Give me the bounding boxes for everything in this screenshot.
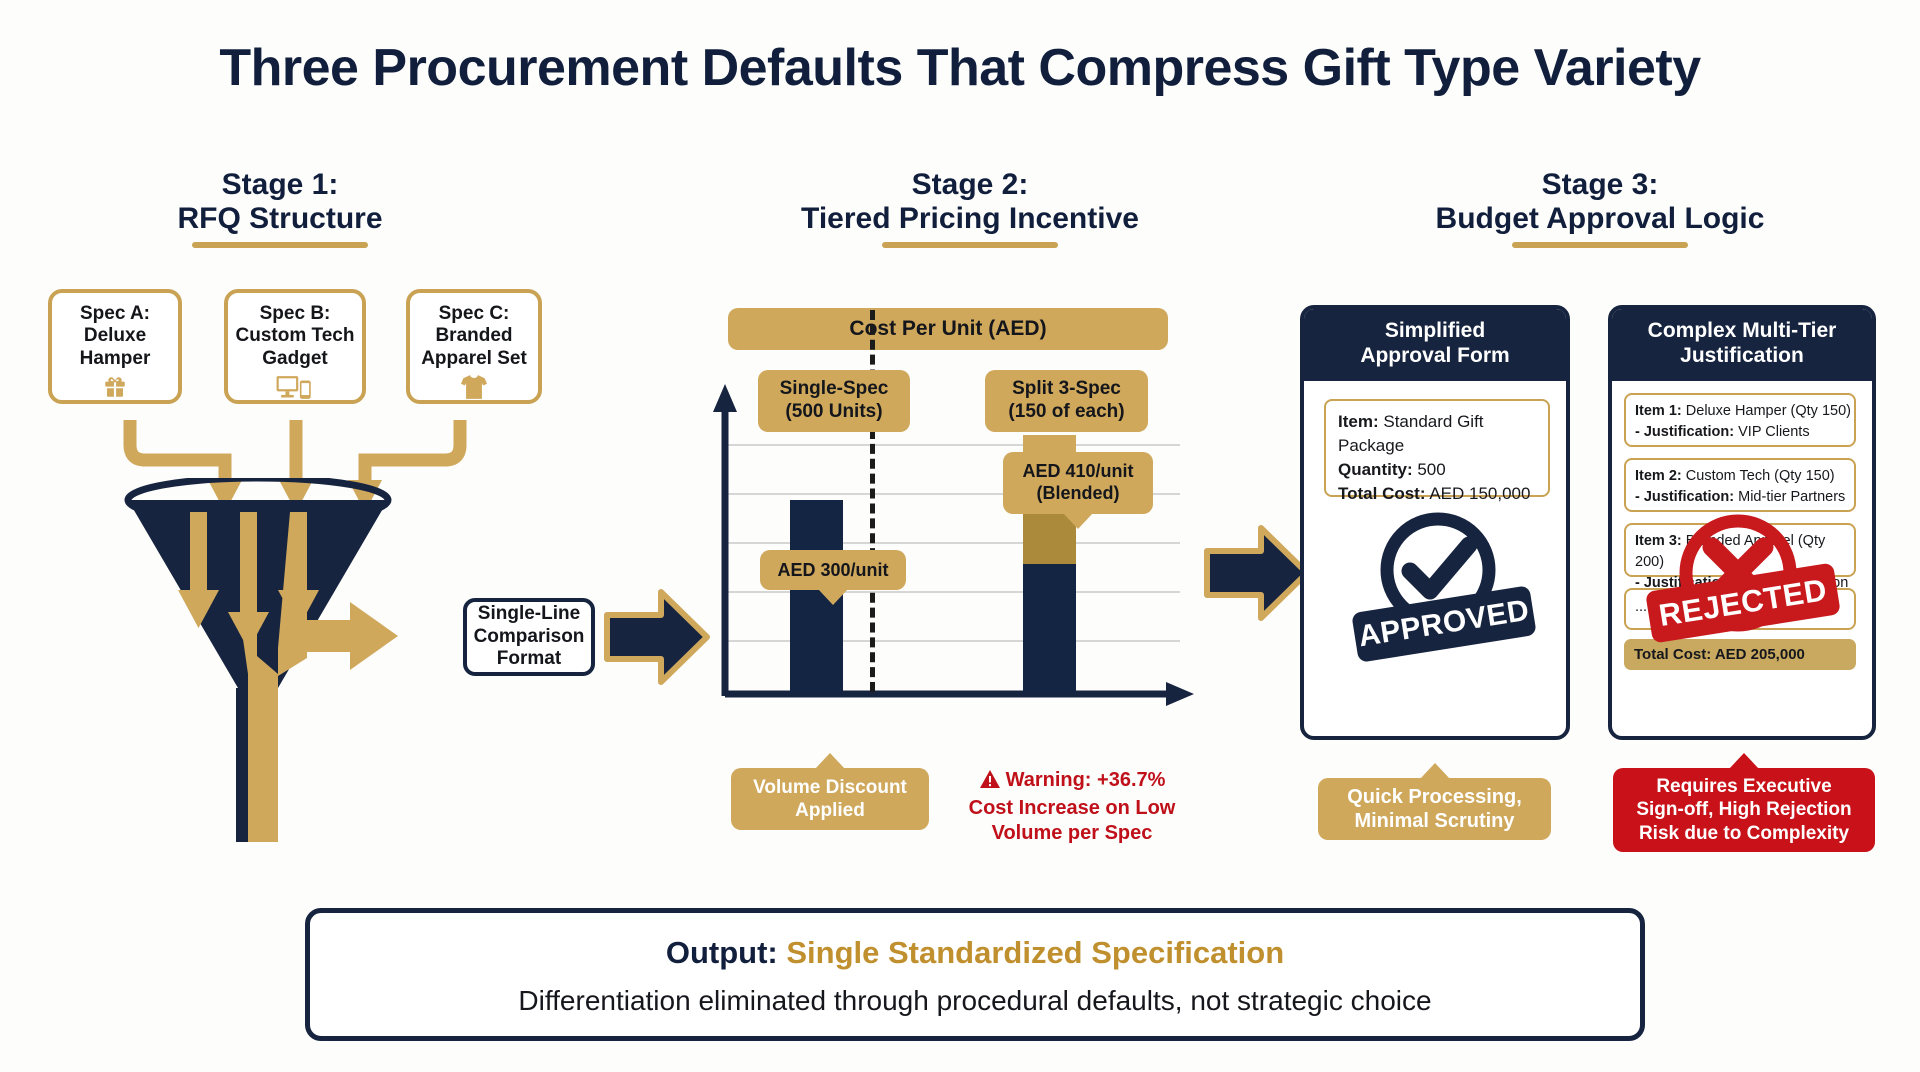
single-value-callout: AED 300/unit (760, 550, 906, 590)
spec-card-c[interactable]: Spec C: Branded Apparel Set (406, 289, 542, 404)
spec-a-line3: Hamper (52, 348, 178, 370)
simplified-field-quantity-label: Quantity: (1338, 460, 1413, 479)
single-spec-label-pill: Single-Spec (500 Units) (758, 370, 910, 432)
funnel-output-arrow (288, 598, 408, 674)
single-line-comparison-box[interactable]: Single-Line Comparison Format (463, 598, 595, 676)
complex-item-2-main: Item 2: Custom Tech (Qty 150) (1635, 466, 1854, 487)
blended-value-callout: AED 410/unit (Blended) (1003, 452, 1153, 514)
stage-2-name: Tiered Pricing Incentive (690, 202, 1250, 236)
complex-item-1-sublabel: - Justification: (1635, 424, 1734, 440)
slc-line1: Single-Line (474, 603, 585, 626)
simplified-field-quantity-value: 500 (1417, 460, 1445, 479)
complex-item-2: Item 2: Custom Tech (Qty 150) - Justific… (1624, 458, 1856, 512)
executive-signoff-caption: Requires Executive Sign-off, High Reject… (1613, 768, 1875, 852)
complex-item-1-label: Item 1: (1635, 403, 1682, 419)
split-spec-line2: (150 of each) (1008, 401, 1124, 424)
output-headline: Output: Single Standardized Specificatio… (310, 935, 1640, 971)
single-value-text: AED 300/unit (777, 560, 888, 581)
output-value: Single Standardized Specification (786, 935, 1284, 970)
gift-icon (52, 374, 178, 405)
chart-title-text: Cost Per Unit (AED) (849, 317, 1046, 341)
warning-line3: Volume per Spec (948, 821, 1196, 846)
complex-card-header: Complex Multi-Tier Justification (1612, 309, 1872, 381)
spec-b-line1: Spec B: (228, 303, 362, 325)
devices-icon (228, 374, 362, 405)
spec-b-line3: Gadget (228, 348, 362, 370)
stage-3-number: Stage 3: (1320, 168, 1880, 202)
complex-item-2-label: Item 2: (1635, 468, 1682, 484)
simplified-field-item-label: Item: (1338, 412, 1379, 431)
tshirt-icon (410, 374, 538, 405)
single-spec-line2: (500 Units) (780, 401, 889, 424)
simplified-fields-box: Item: Standard Gift Package Quantity: 50… (1324, 399, 1550, 497)
complex-item-2-value: Custom Tech (Qty 150) (1686, 468, 1835, 484)
blended-line2: (Blended) (1022, 483, 1133, 505)
executive-signoff-line1: Requires Executive (1636, 775, 1851, 798)
stage-1-name: RFQ Structure (60, 202, 500, 236)
warning-line1: Warning: +36.7% (1006, 769, 1166, 791)
stage-3-header: Stage 3: Budget Approval Logic (1320, 168, 1880, 248)
spec-card-b[interactable]: Spec B: Custom Tech Gadget (224, 289, 366, 404)
complex-item-1-subvalue: VIP Clients (1738, 424, 1809, 440)
stage-2-header: Stage 2: Tiered Pricing Incentive (690, 168, 1250, 248)
complex-item-2-sub: - Justification: Mid-tier Partners (1635, 487, 1854, 508)
complex-justification-card[interactable]: Complex Multi-Tier Justification Item 1:… (1608, 305, 1876, 740)
spec-c-line2: Branded (410, 325, 538, 347)
split-spec-line1: Split 3-Spec (1008, 378, 1124, 401)
spec-b-line2: Custom Tech (228, 325, 362, 347)
stage-1-header: Stage 1: RFQ Structure (60, 168, 500, 248)
executive-signoff-line3: Risk due to Complexity (1636, 822, 1851, 845)
single-spec-line1: Single-Spec (780, 378, 889, 401)
stage-1-number: Stage 1: (60, 168, 500, 202)
complex-item-2-subvalue: Mid-tier Partners (1738, 489, 1845, 505)
stage2-to-stage3-arrow (1203, 518, 1313, 628)
stage-3-name: Budget Approval Logic (1320, 202, 1880, 236)
complex-title-line2: Justification (1616, 344, 1868, 369)
slc-line3: Format (474, 648, 585, 671)
chart-divider (870, 310, 875, 692)
warning-line2: Cost Increase on Low (948, 796, 1196, 821)
stage-1-rule (192, 242, 368, 248)
complex-item-2-sublabel: - Justification: (1635, 489, 1734, 505)
bar-split-spec-segment-bottom (1023, 564, 1076, 694)
output-subtitle: Differentiation eliminated through proce… (310, 985, 1640, 1017)
executive-signoff-line2: Sign-off, High Rejection (1636, 798, 1851, 821)
simplified-card-header: Simplified Approval Form (1304, 309, 1566, 381)
stage1-to-stage2-arrow (603, 582, 713, 692)
simplified-field-quantity: Quantity: 500 (1338, 458, 1548, 482)
complex-total: Total Cost: AED 205,000 (1624, 639, 1856, 670)
simplified-field-item: Item: Standard Gift Package (1338, 410, 1548, 458)
slc-line2: Comparison (474, 626, 585, 649)
simplified-title-line2: Approval Form (1308, 344, 1562, 369)
stage-2-number: Stage 2: (690, 168, 1250, 202)
simplified-field-total-label: Total Cost: (1338, 484, 1426, 503)
complex-title-line1: Complex Multi-Tier (1616, 319, 1868, 344)
output-banner: Output: Single Standardized Specificatio… (305, 908, 1645, 1041)
simplified-field-total: Total Cost: AED 150,000 (1338, 482, 1548, 506)
volume-discount-line2: Applied (753, 799, 907, 822)
stage-3-rule (1512, 242, 1688, 248)
output-label: Output: (666, 935, 778, 970)
complex-item-1-main: Item 1: Deluxe Hamper (Qty 150) (1635, 401, 1854, 422)
gridline-1 (725, 444, 1180, 446)
simplified-title-line1: Simplified (1308, 319, 1562, 344)
volume-discount-line1: Volume Discount (753, 776, 907, 799)
warning-caption: Warning: +36.7% Cost Increase on Low Vol… (948, 768, 1196, 846)
volume-discount-caption: Volume Discount Applied (731, 768, 929, 830)
blended-line1: AED 410/unit (1022, 461, 1133, 483)
complex-item-1-value: Deluxe Hamper (Qty 150) (1686, 403, 1851, 419)
spec-c-line3: Apparel Set (410, 348, 538, 370)
spec-a-line2: Deluxe (52, 325, 178, 347)
page-title: Three Procurement Defaults That Compress… (0, 38, 1920, 98)
quick-processing-line2: Minimal Scrutiny (1347, 809, 1522, 833)
spec-card-a[interactable]: Spec A: Deluxe Hamper (48, 289, 182, 404)
y-axis (710, 382, 746, 700)
simplified-approval-card[interactable]: Simplified Approval Form Item: Standard … (1300, 305, 1570, 740)
stage-2-rule (882, 242, 1058, 248)
quick-processing-caption: Quick Processing, Minimal Scrutiny (1318, 778, 1551, 840)
quick-processing-line1: Quick Processing, (1347, 785, 1522, 809)
simplified-field-total-value: AED 150,000 (1429, 484, 1530, 503)
chart-title-pill: Cost Per Unit (AED) (728, 308, 1168, 350)
spec-c-line1: Spec C: (410, 303, 538, 325)
spec-a-line1: Spec A: (52, 303, 178, 325)
complex-item-1: Item 1: Deluxe Hamper (Qty 150) - Justif… (1624, 393, 1856, 447)
complex-item-1-sub: - Justification: VIP Clients (1635, 422, 1854, 443)
warning-triangle-icon (979, 769, 1001, 796)
split-spec-label-pill: Split 3-Spec (150 of each) (985, 370, 1148, 432)
